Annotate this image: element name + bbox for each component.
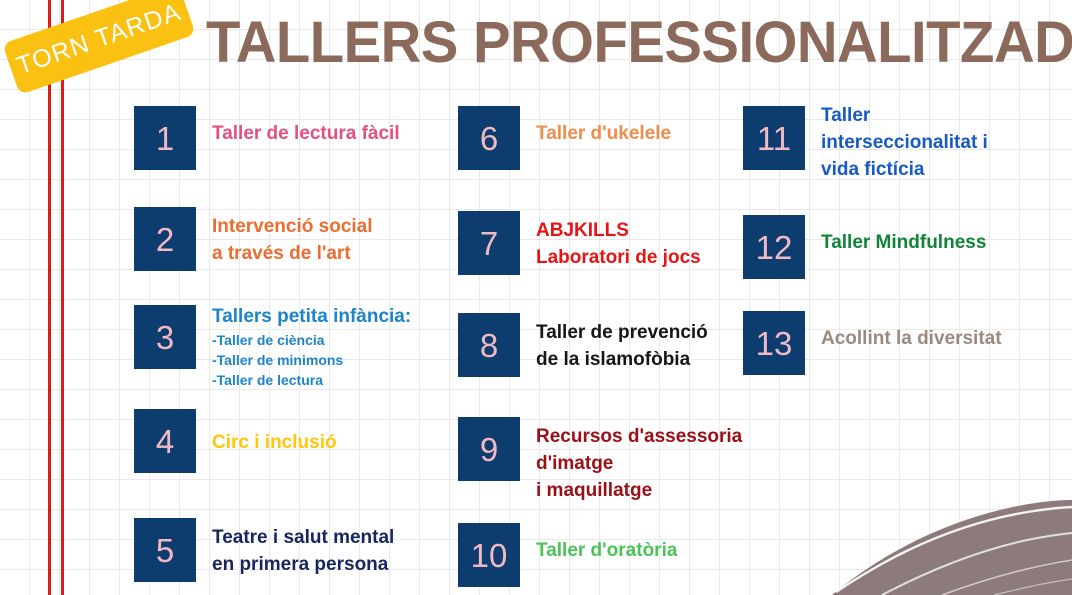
workshop-title: Taller d'ukelele [536,120,671,147]
torn-tarda-badge: TORN TARDA [2,0,195,95]
workshop-number: 5 [156,534,174,567]
workshop-item: 7ABJKILLS Laboratori de jocs [458,211,701,275]
workshop-title: Circ i inclusió [212,429,337,456]
workshop-number-box: 8 [458,313,520,377]
workshop-item: 11Taller interseccionalitat i vida fictí… [743,106,988,183]
workshop-sub-item: -Taller de lectura [212,370,411,390]
workshop-number: 3 [156,321,174,354]
workshop-label-block: Circ i inclusió [196,429,337,456]
workshop-item: 13Acollint la diversitat [743,311,1002,375]
workshop-label-block: Acollint la diversitat [805,325,1002,352]
workshop-title: Taller Mindfulness [821,229,986,256]
workshop-label-block: Taller de prevenció de la islamofòbia [520,319,708,373]
workshop-label-block: Recursos d'assessoria d'imatge i maquill… [520,423,758,504]
workshop-number: 13 [756,327,793,360]
workshop-item: 10Taller d'oratòria [458,523,677,587]
workshop-number-box: 1 [134,106,196,170]
workshop-item: 5Teatre i salut mental en primera person… [134,518,394,582]
workshop-number: 4 [156,425,174,458]
workshop-item: 3Tallers petita infància:-Taller de cièn… [134,305,411,390]
workshop-title: Acollint la diversitat [821,325,1002,352]
workshop-title: Tallers petita infància: [212,303,411,330]
workshop-title: Taller d'oratòria [536,537,677,564]
workshop-sub-list: -Taller de ciència-Taller de minimons-Ta… [212,330,411,390]
workshop-number: 10 [471,539,508,572]
workshop-title: ABJKILLS Laboratori de jocs [536,217,701,271]
workshop-title: Teatre i salut mental en primera persona [212,524,394,578]
workshop-number: 1 [156,122,174,155]
workshop-label-block: ABJKILLS Laboratori de jocs [520,217,701,271]
workshop-number-box: 5 [134,518,196,582]
workshop-label-block: Teatre i salut mental en primera persona [196,524,394,578]
page-title: TALLERS PROFESSIONALITZADORS [206,13,1072,73]
workshop-item: 9Recursos d'assessoria d'imatge i maquil… [458,417,758,504]
workshop-number-box: 11 [743,106,805,170]
workshop-item: 8Taller de prevenció de la islamofòbia [458,313,708,377]
slide-canvas: TORN TARDA TALLERS PROFESSIONALITZADORS … [0,0,1072,595]
workshop-number-box: 9 [458,417,520,481]
workshop-number-box: 10 [458,523,520,587]
workshop-label-block: Taller Mindfulness [805,229,986,256]
brush-stroke-decoration [822,500,1072,595]
workshop-label-block: Intervenció social a través de l'art [196,213,373,267]
workshop-title: Intervenció social a través de l'art [212,213,373,267]
workshop-label-block: Taller d'ukelele [520,120,671,147]
workshop-title: Taller de lectura fàcil [212,120,400,147]
torn-tarda-badge-label: TORN TARDA [13,0,185,81]
workshop-number-box: 13 [743,311,805,375]
workshop-sub-item: -Taller de ciència [212,330,411,350]
margin-rule-left-inner [48,0,51,595]
workshop-label-block: Taller d'oratòria [520,537,677,564]
workshop-number-box: 3 [134,305,196,369]
workshop-title: Recursos d'assessoria d'imatge i maquill… [536,423,758,504]
workshop-title: Taller interseccionalitat i vida fictíci… [821,102,988,183]
workshop-number-box: 4 [134,409,196,473]
workshop-number: 6 [480,122,498,155]
workshop-item: 2Intervenció social a través de l'art [134,207,373,271]
workshop-number-box: 6 [458,106,520,170]
workshop-item: 4Circ i inclusió [134,409,337,473]
workshop-number: 9 [480,433,498,466]
workshop-number: 12 [756,231,793,264]
workshop-item: 1Taller de lectura fàcil [134,106,400,170]
workshop-number: 11 [757,122,791,155]
workshop-label-block: Taller de lectura fàcil [196,120,400,147]
workshop-item: 12Taller Mindfulness [743,215,986,279]
workshop-title: Taller de prevenció de la islamofòbia [536,319,708,373]
workshop-sub-item: -Taller de minimons [212,350,411,370]
margin-rule-left-outer [61,0,64,595]
workshop-label-block: Taller interseccionalitat i vida fictíci… [805,102,988,183]
workshop-number-box: 2 [134,207,196,271]
workshop-item: 6Taller d'ukelele [458,106,671,170]
workshop-number-box: 7 [458,211,520,275]
workshop-number: 7 [480,227,498,260]
workshop-number: 8 [480,329,498,362]
workshop-label-block: Tallers petita infància:-Taller de ciènc… [196,303,411,390]
workshop-number-box: 12 [743,215,805,279]
workshop-number: 2 [156,223,174,256]
